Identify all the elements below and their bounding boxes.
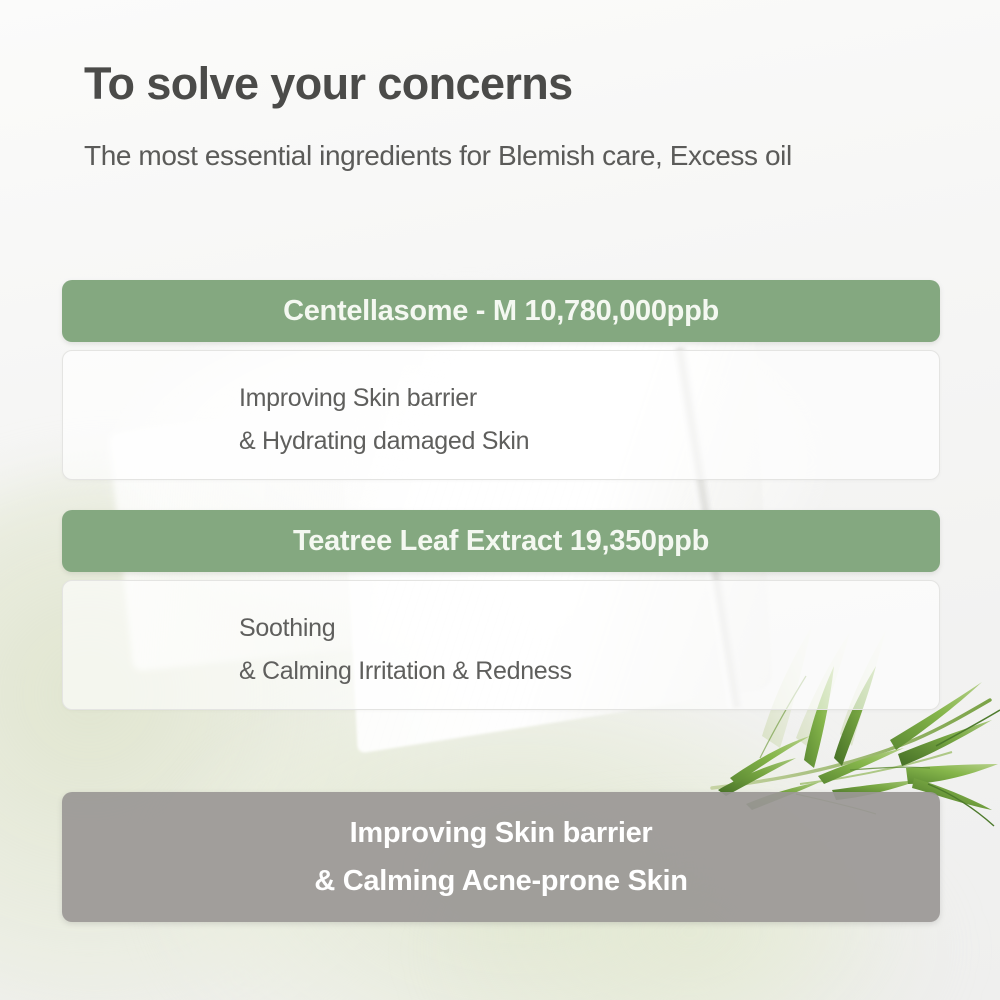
ingredient-card-1: Improving Skin barrier & Hydrating damag…: [62, 350, 940, 480]
summary-line-1: Improving Skin barrier: [350, 809, 653, 857]
ingredient-benefit-2-line-2: & Calming Irritation & Redness: [239, 650, 939, 693]
ingredient-benefit-1-line-2: & Hydrating damaged Skin: [239, 420, 939, 463]
ingredient-banner-label-2: Teatree Leaf Extract 19,350ppb: [293, 525, 709, 558]
page-title: To solve your concerns: [84, 58, 573, 110]
ingredient-banner-1: Centellasome - M 10,780,000ppb: [62, 280, 940, 342]
ingredient-banner-label-1: Centellasome - M 10,780,000ppb: [283, 295, 719, 328]
ingredient-block-2: Teatree Leaf Extract 19,350ppb Soothing …: [62, 510, 940, 710]
ingredient-card-2: Soothing & Calming Irritation & Redness: [62, 580, 940, 710]
page-subtitle: The most essential ingredients for Blemi…: [84, 140, 792, 172]
ingredient-block-1: Centellasome - M 10,780,000ppb Improving…: [62, 280, 940, 480]
summary-banner: Improving Skin barrier & Calming Acne-pr…: [62, 792, 940, 922]
ingredient-benefit-1-line-1: Improving Skin barrier: [239, 377, 939, 420]
ingredient-highlight-page: To solve your concerns The most essentia…: [0, 0, 1000, 1000]
summary-line-2: & Calming Acne-prone Skin: [314, 857, 687, 905]
ingredient-banner-2: Teatree Leaf Extract 19,350ppb: [62, 510, 940, 572]
ingredient-benefit-2-line-1: Soothing: [239, 607, 939, 650]
